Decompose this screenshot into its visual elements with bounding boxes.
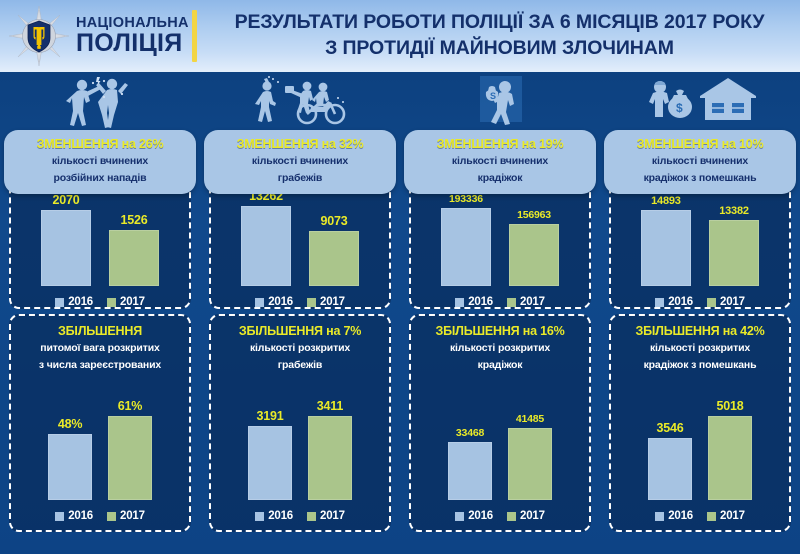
bar-value-2017: 5018 — [716, 399, 743, 413]
caption-head-pct: на 16% — [519, 324, 564, 338]
caption-head: ЗБІЛЬШЕННЯ на 42% — [615, 324, 785, 339]
chart-decrease-burglary: 14893 13382 2016 2017 — [608, 180, 792, 308]
legend-label-2017: 2017 — [520, 510, 545, 522]
bar-2016 — [48, 434, 92, 500]
legend-swatch-2016-icon — [55, 512, 64, 521]
chart-legend: 2016 2017 — [19, 510, 181, 522]
bar-value-2017: 1526 — [121, 213, 148, 227]
caption-sub-line-2: грабежів — [215, 358, 385, 373]
caption-head-word: ЗБІЛЬШЕННЯ — [239, 324, 323, 338]
caption-head: ЗМЕНШЕННЯ на 19% — [410, 137, 590, 152]
bar-value-2016: 48% — [58, 417, 82, 431]
caption-head-pct: на 32% — [318, 137, 363, 151]
caption-sub-line-2: крадіжок — [410, 171, 590, 186]
thief-money-sack-icon: S — [407, 72, 593, 132]
caption-head: ЗБІЛЬШЕННЯ на 7% — [215, 324, 385, 339]
legend-swatch-2017-icon — [307, 298, 316, 307]
stats-column-burglary: $ ЗМЕНШЕННЯ на 10% кількості — [600, 72, 800, 554]
legend-item-2017: 2017 — [307, 510, 345, 522]
bar-2016 — [648, 438, 692, 500]
legend-label-2017: 2017 — [720, 296, 745, 308]
bar-2016 — [441, 208, 491, 286]
bar-2017 — [109, 230, 159, 286]
caption-sub-line-1: кількості вчинених — [410, 154, 590, 169]
bar-2017 — [709, 220, 759, 286]
bar-2017 — [509, 224, 559, 286]
burglary-house-icon: $ — [607, 72, 793, 132]
caption-increase-robbery: ЗБІЛЬШЕННЯ питомої вага розкритих з числ… — [15, 324, 185, 373]
legend-item-2016: 2016 — [55, 296, 93, 308]
legend-item-2017: 2017 — [507, 296, 545, 308]
legend-item-2016: 2016 — [655, 296, 693, 308]
legend-label-2016: 2016 — [68, 296, 93, 308]
stats-columns: ЗМЕНШЕННЯ на 26% кількості вчинених розб… — [0, 72, 800, 554]
police-star-emblem-icon — [8, 5, 70, 67]
chart-legend: 2016 2017 — [208, 296, 392, 308]
bar-value-2016: 2070 — [52, 193, 79, 207]
chart-legend: 2016 2017 — [8, 296, 192, 308]
chart-decrease-robbery: 2070 1526 2016 2017 — [8, 180, 192, 308]
bar-value-2017: 9073 — [321, 214, 348, 228]
legend-swatch-2017-icon — [507, 298, 516, 307]
legend-item-2017: 2017 — [107, 510, 145, 522]
caption-increase-street-robbery: ЗБІЛЬШЕННЯ на 7% кількості розкритих гра… — [215, 324, 385, 373]
caption-head-word: ЗМЕНШЕННЯ — [237, 137, 319, 151]
bar-2016 — [241, 206, 291, 286]
stats-column-street-robbery: ЗМЕНШЕННЯ на 32% кількості вчинених граб… — [200, 72, 400, 554]
chart-increase-street-robbery: 3191 3411 2016 2017 — [219, 372, 381, 522]
caption-head: ЗБІЛЬШЕННЯ на 16% — [415, 324, 585, 339]
panel-increase-street-robbery: ЗБІЛЬШЕННЯ на 7% кількості розкритих гра… — [209, 314, 391, 532]
page-title-line-2: З ПРОТИДІЇ МАЙНОВИМ ЗЛОЧИНАМ — [209, 36, 790, 62]
legend-label-2016: 2016 — [468, 510, 493, 522]
chart-legend: 2016 2017 — [408, 296, 592, 308]
bar-value-2016: 3191 — [257, 409, 284, 423]
caption-sub-line-2: крадіжок — [415, 358, 585, 373]
caption-head-word: ЗМЕНШЕННЯ — [637, 137, 719, 151]
bar-value-2017: 41485 — [516, 413, 544, 425]
caption-sub-line-1: кількості вчинених — [610, 154, 790, 169]
legend-label-2016: 2016 — [268, 510, 293, 522]
caption-head-word: ЗБІЛЬШЕННЯ — [635, 324, 719, 338]
legend-label-2017: 2017 — [320, 296, 345, 308]
legend-label-2016: 2016 — [268, 296, 293, 308]
page-header: НАЦІОНАЛЬНА ПОЛІЦІЯ РЕЗУЛЬТАТИ РОБОТИ ПО… — [0, 0, 800, 72]
caption-head-pct: на 19% — [518, 137, 563, 151]
bar-2016 — [448, 442, 492, 500]
legend-item-2016: 2016 — [455, 296, 493, 308]
legend-item-2016: 2016 — [455, 510, 493, 522]
svg-text:S: S — [490, 91, 496, 101]
legend-swatch-2017-icon — [707, 512, 716, 521]
police-logo-text: НАЦІОНАЛЬНА ПОЛІЦІЯ — [76, 16, 189, 57]
legend-item-2017: 2017 — [107, 296, 145, 308]
legend-swatch-2016-icon — [55, 298, 64, 307]
legend-item-2017: 2017 — [707, 510, 745, 522]
bar-2017 — [308, 416, 352, 500]
panel-increase-robbery: ЗБІЛЬШЕННЯ питомої вага розкритих з числ… — [9, 314, 191, 532]
caption-increase-burglary: ЗБІЛЬШЕННЯ на 42% кількості розкритих кр… — [615, 324, 785, 373]
caption-sub-line-2: розбійних нападів — [10, 171, 190, 186]
bar-value-2017: 156963 — [517, 209, 551, 221]
legend-swatch-2016-icon — [255, 298, 264, 307]
chart-increase-burglary: 3546 5018 2016 2017 — [619, 372, 781, 522]
caption-sub-line-2: крадіжок з помешкань — [610, 171, 790, 186]
caption-decrease-burglary: ЗМЕНШЕННЯ на 10% кількості вчинених крад… — [604, 130, 796, 194]
legend-label-2016: 2016 — [668, 296, 693, 308]
caption-head: ЗМЕНШЕННЯ на 32% — [210, 137, 390, 152]
caption-head-word: ЗБІЛЬШЕННЯ — [58, 324, 142, 338]
logo-line-police: ПОЛІЦІЯ — [76, 31, 189, 56]
caption-sub-line-2: грабежів — [210, 171, 390, 186]
panel-increase-burglary: ЗБІЛЬШЕННЯ на 42% кількості розкритих кр… — [609, 314, 791, 532]
caption-head-pct: на 42% — [719, 324, 764, 338]
bar-2016 — [248, 426, 292, 500]
logo-line-national: НАЦІОНАЛЬНА — [76, 16, 189, 31]
panel-increase-theft: ЗБІЛЬШЕННЯ на 16% кількості розкритих кр… — [409, 314, 591, 532]
legend-item-2016: 2016 — [655, 510, 693, 522]
legend-label-2017: 2017 — [320, 510, 345, 522]
caption-sub-line-1: кількості розкритих — [215, 341, 385, 356]
legend-label-2017: 2017 — [120, 296, 145, 308]
bar-2016 — [41, 210, 91, 286]
chart-legend: 2016 2017 — [419, 510, 581, 522]
bar-value-2016: 193336 — [449, 193, 483, 205]
chart-legend: 2016 2017 — [619, 510, 781, 522]
svg-text:$: $ — [676, 101, 683, 115]
legend-swatch-2016-icon — [255, 512, 264, 521]
caption-head: ЗМЕНШЕННЯ на 10% — [610, 137, 790, 152]
chart-increase-theft: 33468 41485 2016 2017 — [419, 372, 581, 522]
legend-swatch-2016-icon — [655, 298, 664, 307]
caption-decrease-robbery: ЗМЕНШЕННЯ на 26% кількості вчинених розб… — [4, 130, 196, 194]
caption-sub-line-1: кількості розкритих — [615, 341, 785, 356]
bar-value-2016: 3546 — [657, 421, 684, 435]
bar-value-2017: 13382 — [719, 205, 749, 217]
chart-decrease-theft: 193336 156963 2016 2017 — [408, 180, 592, 308]
robbery-assault-icon — [7, 72, 193, 132]
legend-swatch-2017-icon — [707, 298, 716, 307]
legend-item-2017: 2017 — [307, 296, 345, 308]
caption-head-word: ЗМЕНШЕННЯ — [37, 137, 119, 151]
bar-2017 — [108, 416, 152, 500]
street-robbery-motorbike-icon — [207, 72, 393, 132]
bar-value-2016: 33468 — [456, 427, 484, 439]
legend-item-2016: 2016 — [255, 296, 293, 308]
caption-head-word: ЗМЕНШЕННЯ — [437, 137, 519, 151]
caption-decrease-street-robbery: ЗМЕНШЕННЯ на 32% кількості вчинених граб… — [204, 130, 396, 194]
page-title: РЕЗУЛЬТАТИ РОБОТИ ПОЛІЦІЇ ЗА 6 МІСЯЦІВ 2… — [197, 10, 800, 61]
legend-swatch-2016-icon — [455, 298, 464, 307]
legend-swatch-2016-icon — [655, 512, 664, 521]
bar-2017 — [508, 428, 552, 500]
caption-sub-line-2: крадіжок з помешкань — [615, 358, 785, 373]
bar-value-2017: 61% — [118, 399, 142, 413]
caption-decrease-theft: ЗМЕНШЕННЯ на 19% кількості вчинених крад… — [404, 130, 596, 194]
caption-head-pct: на 26% — [118, 137, 163, 151]
legend-swatch-2017-icon — [107, 298, 116, 307]
legend-item-2017: 2017 — [707, 296, 745, 308]
legend-swatch-2017-icon — [307, 512, 316, 521]
legend-swatch-2017-icon — [107, 512, 116, 521]
police-logo: НАЦІОНАЛЬНА ПОЛІЦІЯ — [0, 0, 192, 72]
legend-item-2016: 2016 — [255, 510, 293, 522]
page-title-line-1: РЕЗУЛЬТАТИ РОБОТИ ПОЛІЦІЇ ЗА 6 МІСЯЦІВ 2… — [209, 10, 790, 36]
caption-head: ЗБІЛЬШЕННЯ — [15, 324, 185, 339]
stats-column-robbery: ЗМЕНШЕННЯ на 26% кількості вчинених розб… — [0, 72, 200, 554]
caption-sub-line-1: питомої вага розкритих — [15, 341, 185, 356]
stats-column-theft: S ЗМЕНШЕННЯ на 19% кількості вчинених кр… — [400, 72, 600, 554]
chart-legend: 2016 2017 — [219, 510, 381, 522]
bar-2017 — [708, 416, 752, 500]
bar-value-2017: 3411 — [317, 399, 343, 413]
caption-increase-theft: ЗБІЛЬШЕННЯ на 16% кількості розкритих кр… — [415, 324, 585, 373]
caption-head: ЗМЕНШЕННЯ на 26% — [10, 137, 190, 152]
legend-item-2016: 2016 — [55, 510, 93, 522]
caption-head-word: ЗБІЛЬШЕННЯ — [435, 324, 519, 338]
legend-label-2017: 2017 — [120, 510, 145, 522]
legend-label-2016: 2016 — [68, 510, 93, 522]
chart-decrease-street-robbery: 13262 9073 2016 2017 — [208, 180, 392, 308]
legend-item-2017: 2017 — [507, 510, 545, 522]
legend-swatch-2017-icon — [507, 512, 516, 521]
caption-sub-line-1: кількості вчинених — [210, 154, 390, 169]
bar-2016 — [641, 210, 691, 286]
bar-2017 — [309, 231, 359, 286]
caption-head-pct: на 7% — [323, 324, 361, 338]
caption-sub-line-1: кількості вчинених — [10, 154, 190, 169]
legend-swatch-2016-icon — [455, 512, 464, 521]
legend-label-2017: 2017 — [720, 510, 745, 522]
legend-label-2017: 2017 — [520, 296, 545, 308]
bar-value-2016: 14893 — [651, 195, 681, 207]
legend-label-2016: 2016 — [668, 510, 693, 522]
caption-head-pct: на 10% — [718, 137, 763, 151]
legend-label-2016: 2016 — [468, 296, 493, 308]
chart-increase-robbery: 48% 61% 2016 2017 — [19, 372, 181, 522]
chart-legend: 2016 2017 — [608, 296, 792, 308]
caption-sub-line-1: кількості розкритих — [415, 341, 585, 356]
caption-sub-line-2: з числа зареєстрованих — [15, 358, 185, 373]
